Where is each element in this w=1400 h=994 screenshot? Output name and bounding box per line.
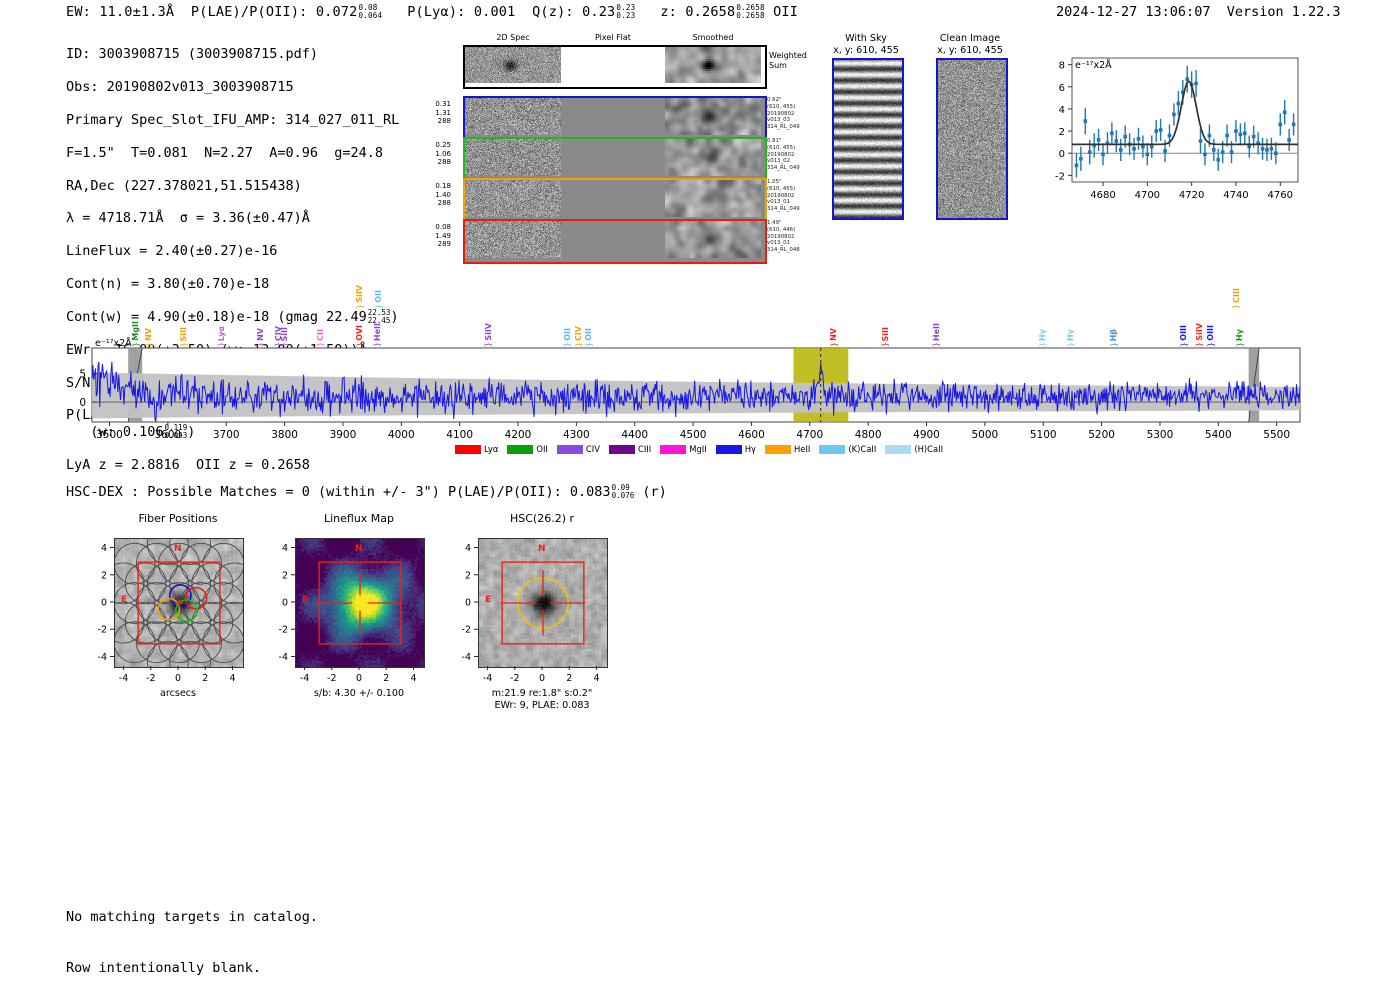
spectrum-line-marker: MgII{ <box>131 308 141 348</box>
legend-label: Hγ <box>745 444 756 454</box>
spectrum-line-bracket: { <box>1040 342 1047 347</box>
ew-value: 11.0±1.3Å <box>99 4 174 20</box>
spectrum-line-marker: NV{ <box>144 308 154 348</box>
fiber-meta: 314_RL_049 <box>767 206 811 213</box>
fiber-stat: 0.18 <box>425 182 451 191</box>
fiber-meta: 20190802 <box>767 234 811 241</box>
info-line-lineflux: LineFlux = 2.40(±0.27)e-16 <box>66 243 399 259</box>
info-line-slot: Primary Spec_Slot_IFU_AMP: 314_027_011_R… <box>66 112 399 128</box>
svg-text:5: 5 <box>79 369 86 381</box>
spectrum-line-marker: CIII{ <box>1232 270 1242 310</box>
full-spectrum-plot: 05e⁻¹⁷x2Å <box>92 348 1300 422</box>
spectrum-line-bracket: { <box>133 342 140 347</box>
svg-text:0: 0 <box>356 673 362 684</box>
cutout-coords: x, y: 610, 455 <box>810 45 922 57</box>
svg-text:4100: 4100 <box>446 429 473 441</box>
svg-text:4: 4 <box>229 673 235 684</box>
fiber-stat: 1.06 <box>425 150 451 159</box>
svg-text:4500: 4500 <box>680 429 707 441</box>
spectrum-line-bracket: { <box>882 342 889 347</box>
svg-text:4: 4 <box>410 673 416 684</box>
fiber-row-4-stats: 0.081.49289 <box>425 223 451 249</box>
svg-text:0: 0 <box>465 598 471 609</box>
svg-text:2: 2 <box>465 570 471 581</box>
sky-cutouts: With Skyx, y: 610, 455Clean Imagex, y: 6… <box>818 33 1028 258</box>
spec-column-title-0: 2D Spec <box>465 33 561 42</box>
fiber-row-3-stats: 0.181.40288 <box>425 182 451 208</box>
spectrum-line-bracket: { <box>934 342 941 347</box>
spectrum-line-label: OIII <box>1206 325 1216 341</box>
footer-note: No matching targets in catalog. Row inte… <box>66 875 318 994</box>
cutout-title-1: Clean Imagex, y: 610, 455 <box>914 33 1026 56</box>
svg-text:2: 2 <box>202 673 208 684</box>
footer-line-1: No matching targets in catalog. <box>66 909 318 926</box>
fiber-row-2-stats: 0.251.06288 <box>425 141 451 167</box>
fiber-meta: 0.81" <box>767 138 811 145</box>
spectrum-line-label: SiIV <box>355 285 365 303</box>
spectrum-line-marker: OVI{ <box>355 308 365 348</box>
svg-text:-4: -4 <box>279 652 288 663</box>
spectrum-line-bracket: { <box>1068 342 1075 347</box>
svg-text:2: 2 <box>282 570 288 581</box>
spectrum-line-marker: OII{ <box>563 308 573 348</box>
svg-text:4740: 4740 <box>1223 190 1248 201</box>
spectrum-line-bracket: { <box>1208 342 1215 347</box>
spectrum-line-label: NV <box>144 328 154 341</box>
fiber-row-1-meta: 0.62"(610, 455)20190802v013_03314_RL_049 <box>767 97 811 131</box>
spectrum-line-label: Hγ <box>1235 329 1245 341</box>
legend-label: HeII <box>794 444 810 454</box>
two-d-spectrum-grid: 2D SpecPixel FlatSmoothedWeighted Sum0.3… <box>425 33 805 258</box>
spectrum-line-label: Lyα <box>217 326 227 341</box>
cutout-title-0: With Skyx, y: 610, 455 <box>810 33 922 56</box>
fiber-meta: 1.49" <box>767 220 811 227</box>
svg-text:5100: 5100 <box>1030 429 1057 441</box>
fiber-meta: 20190802 <box>767 152 811 159</box>
spectrum-line-label: CIV <box>574 326 584 341</box>
svg-text:-2: -2 <box>462 625 471 636</box>
qz-label: Q(z): <box>532 4 574 20</box>
ew-label: EW: <box>66 4 91 20</box>
legend-label: OII <box>536 444 548 454</box>
spectrum-line-label: Hγ <box>1038 329 1048 341</box>
header-timestamp: 2024-12-27 13:06:07 Version 1.22.3 <box>1056 4 1341 20</box>
svg-text:3500: 3500 <box>96 429 123 441</box>
spectrum-line-marker: OIII{ <box>1179 308 1189 348</box>
spectrum-line-bracket: { <box>357 342 364 347</box>
z-bounds: 0.26580.2658 <box>736 4 764 19</box>
legend-item-ciii: CIII <box>609 444 651 454</box>
svg-text:3800: 3800 <box>271 429 298 441</box>
spec-column-title-2: Smoothed <box>665 33 761 42</box>
fiber-row-1 <box>463 96 767 141</box>
svg-text:-2: -2 <box>146 673 155 684</box>
fiber-row-3-meta: 1.05"(610, 455)20190802v013_01314_RL_049 <box>767 179 811 213</box>
fiber-stat: 1.40 <box>425 191 451 200</box>
legend-item-lyα: Lyα <box>455 444 498 454</box>
legend-swatch <box>819 445 845 454</box>
legend-label: Lyα <box>484 444 498 454</box>
legend-label: MgII <box>689 444 706 454</box>
svg-text:0: 0 <box>282 598 288 609</box>
spectrum-line-label: SiII <box>280 327 290 341</box>
cell-caption-line-1: m:21.9 re:1.8" s:0.2" <box>428 688 656 700</box>
svg-text:2: 2 <box>383 673 389 684</box>
info-line-lambda: λ = 4718.71Å σ = 3.36(±0.47)Å <box>66 210 399 226</box>
spectrum-line-label: SiII <box>881 327 891 341</box>
spectrum-line-bracket: { <box>218 342 225 347</box>
svg-text:4000: 4000 <box>388 429 415 441</box>
svg-text:4600: 4600 <box>738 429 765 441</box>
legend-item-oii: OII <box>507 444 548 454</box>
legend-item-heii: HeII <box>765 444 810 454</box>
svg-text:-2: -2 <box>327 673 336 684</box>
spectrum-line-bracket: { <box>181 342 188 347</box>
weighted-sum-row <box>463 45 767 89</box>
spectrum-line-label: OII <box>563 328 573 341</box>
spectrum-line-bracket: { <box>146 342 153 347</box>
fiber-stat: 288 <box>425 117 451 126</box>
hsc-dex-bounds: 0.090.076 <box>612 484 635 499</box>
svg-text:-2: -2 <box>279 625 288 636</box>
fiber-meta: 1.05" <box>767 179 811 186</box>
spectrum-line-marker: OII{ <box>584 308 594 348</box>
legend-swatch <box>507 445 533 454</box>
spectrum-line-label: Hγ <box>1066 329 1076 341</box>
spectrum-line-marker: Hγ{ <box>1038 308 1048 348</box>
fiber-meta: v013_03 <box>767 117 811 124</box>
spectrum-line-label: OVI <box>355 325 365 341</box>
plae-bounds: 0.080.064 <box>358 4 382 19</box>
legend-item-civ: CIV <box>557 444 600 454</box>
svg-text:-2: -2 <box>1055 171 1065 182</box>
hsc-dex-text: HSC-DEX : Possible Matches = 0 (within +… <box>66 484 611 500</box>
hsc-dex-filter: (r) <box>642 484 666 500</box>
spectrum-line-marker: Lyα{ <box>217 308 227 348</box>
svg-text:0: 0 <box>539 673 545 684</box>
cell-title-fibers: Fiber Positions <box>74 512 282 525</box>
fiber-row-2-meta: 0.81"(610, 455)20190802v013_02314_RL_049 <box>767 138 811 172</box>
cell-caption-hsc: m:21.9 re:1.8" s:0.2"EWr: 9, PLAE: 0.083 <box>428 688 656 712</box>
fiber-row-4-meta: 1.49"(610, 446)20190802v013_01314_RL_048 <box>767 220 811 254</box>
legend-item-hγ: Hγ <box>716 444 756 454</box>
spectrum-line-bracket: { <box>374 342 381 347</box>
legend-label: CIII <box>638 444 651 454</box>
spectrum-line-marker: SiII{ <box>881 308 891 348</box>
plae-value: 0.072 <box>316 4 358 20</box>
svg-text:4680: 4680 <box>1090 190 1115 201</box>
svg-text:4: 4 <box>282 543 288 554</box>
spectrum-line-label: HeII <box>373 323 383 341</box>
spectrum-line-bracket: { <box>485 342 492 347</box>
svg-text:-4: -4 <box>119 673 128 684</box>
weighted-sum-label: Weighted Sum <box>769 51 807 70</box>
svg-text:3900: 3900 <box>330 429 357 441</box>
spectrum-line-bracket: { <box>317 342 324 347</box>
plae-label: P(LAE)/P(OII): <box>191 4 308 20</box>
z-type: OII <box>773 4 798 20</box>
svg-text:5200: 5200 <box>1088 429 1115 441</box>
svg-text:4: 4 <box>1059 105 1065 116</box>
spectrum-line-bracket: { <box>357 304 364 309</box>
spectrum-line-marker: OII{ <box>374 270 384 310</box>
fiber-stat: 289 <box>425 240 451 249</box>
svg-text:4700: 4700 <box>796 429 823 441</box>
spectrum-line-marker: HeII{ <box>932 308 942 348</box>
fiber-stat: 288 <box>425 158 451 167</box>
spectrum-line-marker: SiIV{ <box>1195 308 1205 348</box>
spectrum-line-marker: NV{ <box>829 308 839 348</box>
spectrum-line-bracket: { <box>1111 342 1118 347</box>
fiber-meta: 314_RL_048 <box>767 247 811 254</box>
svg-text:4900: 4900 <box>913 429 940 441</box>
qz-bounds: 0.230.23 <box>616 4 635 19</box>
legend-swatch <box>455 445 481 454</box>
svg-text:-4: -4 <box>462 652 471 663</box>
svg-text:4300: 4300 <box>563 429 590 441</box>
fiber-row-3 <box>463 178 767 223</box>
fiber-meta: 20190802 <box>767 111 811 118</box>
spectrum-line-label: SiIV <box>484 323 494 341</box>
svg-text:-4: -4 <box>98 652 107 663</box>
info-line-radec: RA,Dec (227.378021,51.515438) <box>66 178 399 194</box>
svg-text:8: 8 <box>1059 61 1065 72</box>
cutout-image-clean-noise <box>936 58 1008 220</box>
svg-text:4800: 4800 <box>855 429 882 441</box>
svg-text:4720: 4720 <box>1179 190 1204 201</box>
plya-value: 0.001 <box>474 4 516 20</box>
spectrum-line-bracket: { <box>1181 342 1188 347</box>
legend-item-mgii: MgII <box>660 444 706 454</box>
fiber-row-4 <box>463 219 767 264</box>
svg-text:2: 2 <box>101 570 107 581</box>
svg-text:-2: -2 <box>510 673 519 684</box>
svg-text:-2: -2 <box>98 625 107 636</box>
svg-text:5300: 5300 <box>1147 429 1174 441</box>
z-value: 0.2658 <box>685 4 735 20</box>
cell-title-hsc: HSC(26.2) r <box>438 512 646 525</box>
info-line-params: F=1.5" T=0.081 N=2.27 A=0.96 g=24.8 <box>66 145 399 161</box>
fiber-row-2 <box>463 137 767 182</box>
legend-swatch <box>885 445 911 454</box>
fiber-stat: 1.49 <box>425 232 451 241</box>
svg-text:5400: 5400 <box>1205 429 1232 441</box>
svg-text:4: 4 <box>101 543 107 554</box>
spectrum-line-label: CIII <box>1232 288 1242 303</box>
report-date: 2024-12-27 <box>1056 4 1137 20</box>
spectrum-line-marker: SiIV{ <box>355 270 365 310</box>
fiber-meta: (610, 455) <box>767 145 811 152</box>
spectrum-line-marker: HeII{ <box>373 308 383 348</box>
svg-text:4700: 4700 <box>1135 190 1160 201</box>
fiber-meta: 0.62" <box>767 97 811 104</box>
svg-text:3700: 3700 <box>213 429 240 441</box>
fiber-meta: (610, 455) <box>767 186 811 193</box>
info-line-id: ID: 3003908715 (3003908715.pdf) <box>66 46 399 62</box>
cutout-name: With Sky <box>810 33 922 45</box>
svg-text:e⁻¹⁷x2Å: e⁻¹⁷x2Å <box>95 337 132 349</box>
cutout-image-sky-banded <box>832 58 904 220</box>
cutout-cells: Fiber PositionsNE-4-2024420-2-4arcsecsLi… <box>50 508 670 738</box>
legend-item-kcaii: (K)CaII <box>819 444 876 454</box>
header-summary-line: EW: 11.0±1.3Å P(LAE)/P(OII): 0.0720.080.… <box>66 4 798 20</box>
fiber-meta: 314_RL_049 <box>767 124 811 131</box>
svg-text:4200: 4200 <box>505 429 532 441</box>
spectrum-line-marker: OIII{ <box>1206 308 1216 348</box>
legend-label: (K)CaII <box>848 444 876 454</box>
legend-swatch <box>765 445 791 454</box>
fiber-meta: (610, 455) <box>767 104 811 111</box>
footer-line-2: Row intentionally blank. <box>66 960 318 977</box>
qz-value: 0.23 <box>582 4 615 20</box>
spectrum-line-label: CII <box>316 329 326 341</box>
spectrum-line-marker: Hγ{ <box>1235 308 1245 348</box>
fiber-meta: v013_02 <box>767 158 811 165</box>
svg-text:4400: 4400 <box>621 429 648 441</box>
spectrum-line-label: OIII <box>1179 325 1189 341</box>
spectrum-line-marker: SiII{ <box>280 308 290 348</box>
svg-text:-4: -4 <box>300 673 309 684</box>
spectrum-line-label: OII <box>374 290 384 303</box>
cell-title-viridis: Lineflux Map <box>255 512 463 525</box>
info-line-z: LyA z = 2.8816 OII z = 0.2658 <box>66 457 399 473</box>
cutout-coords: x, y: 610, 455 <box>914 45 1026 57</box>
spectrum-line-label: Hβ <box>1109 329 1119 341</box>
svg-text:4760: 4760 <box>1268 190 1293 201</box>
spectrum-line-label: MgII <box>131 321 141 341</box>
legend-item-hcaii: (H)CaII <box>885 444 943 454</box>
svg-text:4: 4 <box>465 543 471 554</box>
svg-text:0: 0 <box>1059 149 1065 160</box>
spectrum-line-marker: CII{ <box>316 308 326 348</box>
svg-text:0: 0 <box>101 598 107 609</box>
spectrum-legend: LyαOIICIVCIIIMgIIHγHeII(K)CaII(H)CaII <box>455 444 943 454</box>
spectrum-line-bracket: { <box>586 342 593 347</box>
spectrum-line-label: HeII <box>932 323 942 341</box>
spectrum-line-marker: Hβ{ <box>1109 308 1119 348</box>
svg-text:e⁻¹⁷x2Å: e⁻¹⁷x2Å <box>1075 59 1112 71</box>
svg-text:4: 4 <box>593 673 599 684</box>
fiber-stat: 0.31 <box>425 100 451 109</box>
spectrum-x-axis: 3500360037003800390040004100420043004400… <box>92 422 1300 442</box>
legend-swatch <box>557 445 583 454</box>
fiber-stat: 288 <box>425 199 451 208</box>
spectrum-line-labels: MgII{NV{SiII{Lyα{NV{CIV{SiII{CII{OVI{SiI… <box>92 276 1300 348</box>
fiber-meta: (610, 446) <box>767 227 811 234</box>
fiber-meta: v013_01 <box>767 199 811 206</box>
spectrum-line-bracket: { <box>1237 342 1244 347</box>
spectrum-line-marker: SiIV{ <box>484 308 494 348</box>
spectrum-line-marker: NV{ <box>256 308 266 348</box>
spectrum-line-bracket: { <box>564 342 571 347</box>
svg-text:2: 2 <box>566 673 572 684</box>
cutout-name: Clean Image <box>914 33 1026 45</box>
legend-swatch <box>660 445 686 454</box>
fiber-row-1-stats: 0.311.31288 <box>425 100 451 126</box>
fiber-meta: 20190802 <box>767 193 811 200</box>
fiber-meta: v013_01 <box>767 240 811 247</box>
spectrum-line-bracket: { <box>281 342 288 347</box>
svg-text:0: 0 <box>79 397 86 409</box>
spectrum-line-label: SiIV <box>1195 323 1205 341</box>
spectrum-line-marker: Hγ{ <box>1066 308 1076 348</box>
fiber-stat: 0.25 <box>425 141 451 150</box>
info-line-obs: Obs: 20190802v013_3003908715 <box>66 79 399 95</box>
plya-label: P(Lyα): <box>407 4 465 20</box>
spectrum-line-bracket: { <box>376 304 383 309</box>
spectrum-line-label: NV <box>829 328 839 341</box>
spectrum-line-bracket: { <box>1196 342 1203 347</box>
legend-swatch <box>609 445 635 454</box>
spectrum-line-bracket: { <box>258 342 265 347</box>
legend-swatch <box>716 445 742 454</box>
z-label: z: <box>660 4 677 20</box>
spectrum-line-bracket: { <box>831 342 838 347</box>
fiber-meta: 314_RL_049 <box>767 165 811 172</box>
svg-text:5000: 5000 <box>972 429 999 441</box>
spectrum-line-marker: CIV{ <box>574 308 584 348</box>
cell-caption-line-2: EWr: 9, PLAE: 0.083 <box>428 700 656 712</box>
svg-text:3600: 3600 <box>154 429 181 441</box>
hsc-dex-summary: HSC-DEX : Possible Matches = 0 (within +… <box>66 484 667 500</box>
legend-label: (H)CaII <box>914 444 943 454</box>
emission-line-plot: -20246846804700472047404760e⁻¹⁷x2Å <box>1036 48 1304 208</box>
spectrum-line-label: OII <box>584 328 594 341</box>
fiber-stat: 0.08 <box>425 223 451 232</box>
fiber-stat: 1.31 <box>425 109 451 118</box>
report-time: 13:06:07 <box>1145 4 1210 20</box>
spec-column-title-1: Pixel Flat <box>565 33 661 42</box>
spectrum-line-label: NV <box>256 328 266 341</box>
spectrum-line-label: SiII <box>179 327 189 341</box>
svg-text:-4: -4 <box>483 673 492 684</box>
svg-text:2: 2 <box>1059 127 1065 138</box>
svg-text:6: 6 <box>1059 83 1065 94</box>
svg-text:0: 0 <box>175 673 181 684</box>
spectrum-line-marker: SiII{ <box>179 308 189 348</box>
legend-label: CIV <box>586 444 600 454</box>
spectrum-line-bracket: { <box>576 342 583 347</box>
svg-text:5500: 5500 <box>1263 429 1290 441</box>
report-version: Version 1.22.3 <box>1227 4 1341 20</box>
